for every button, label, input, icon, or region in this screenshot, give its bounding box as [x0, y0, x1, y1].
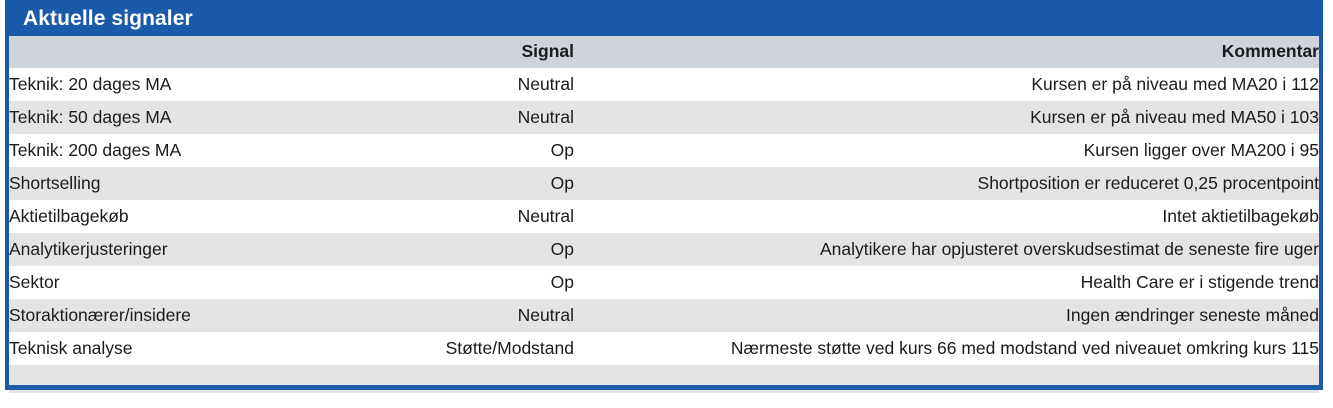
cell-comment: Ingen ændringer seneste måned — [574, 299, 1319, 332]
cell-signal: Neutral — [379, 101, 574, 134]
cell-comment: Kursen er på niveau med MA50 i 103 — [574, 101, 1319, 134]
cell-signal: Neutral — [379, 299, 574, 332]
page-title: Aktuelle signaler — [23, 8, 193, 29]
cell-comment: Kursen er på niveau med MA20 i 112 — [574, 68, 1319, 101]
panel-bottom-rule — [5, 385, 1323, 390]
cell-name: Analytikerjusteringer — [9, 233, 379, 266]
cell-name: Aktietilbagekøb — [9, 200, 379, 233]
table-row: Teknik: 50 dages MANeutralKursen er på n… — [9, 101, 1319, 134]
column-header-signal: Signal — [379, 36, 574, 68]
cell-signal: Op — [379, 266, 574, 299]
panel-title-bar: Aktuelle signaler — [9, 0, 1319, 36]
signals-table: Signal Kommentar Teknik: 20 dages MANeut… — [9, 36, 1319, 393]
table-row: Teknisk analyseStøtte/ModstandNærmeste s… — [9, 332, 1319, 365]
cell-signal: Op — [379, 233, 574, 266]
cell-name: Storaktionærer/insidere — [9, 299, 379, 332]
cell-name: Teknik: 200 dages MA — [9, 134, 379, 167]
table-header: Signal Kommentar — [9, 36, 1319, 68]
cell-signal: Neutral — [379, 68, 574, 101]
cell-name: Shortselling — [9, 167, 379, 200]
table-row: Storaktionærer/insidereNeutralIngen ændr… — [9, 299, 1319, 332]
table-row: Teknik: 20 dages MANeutralKursen er på n… — [9, 68, 1319, 101]
column-header-name — [9, 36, 379, 68]
cell-comment: Nærmeste støtte ved kurs 66 med modstand… — [574, 332, 1319, 365]
table-row: AnalytikerjusteringerOpAnalytikere har o… — [9, 233, 1319, 266]
table-row: AktietilbagekøbNeutralIntet aktietilbage… — [9, 200, 1319, 233]
cell-comment: Intet aktietilbagekøb — [574, 200, 1319, 233]
table-body: Teknik: 20 dages MANeutralKursen er på n… — [9, 68, 1319, 393]
table-row: Teknik: 200 dages MAOpKursen ligger over… — [9, 134, 1319, 167]
cell-name: Teknisk analyse — [9, 332, 379, 365]
cell-comment: Kursen ligger over MA200 i 95 — [574, 134, 1319, 167]
cell-signal: Neutral — [379, 200, 574, 233]
table-header-row: Signal Kommentar — [9, 36, 1319, 68]
cell-comment: Health Care er i stigende trend — [574, 266, 1319, 299]
cell-name: Teknik: 20 dages MA — [9, 68, 379, 101]
signals-panel: Aktuelle signaler Signal Kommentar Tekni… — [5, 0, 1323, 385]
cell-signal: Støtte/Modstand — [379, 332, 574, 365]
cell-comment: Shortposition er reduceret 0,25 procentp… — [574, 167, 1319, 200]
cell-name: Sektor — [9, 266, 379, 299]
cell-signal: Op — [379, 167, 574, 200]
cell-comment: Analytikere har opjusteret overskudsesti… — [574, 233, 1319, 266]
cell-signal: Op — [379, 134, 574, 167]
column-header-comment: Kommentar — [574, 36, 1319, 68]
cell-name: Teknik: 50 dages MA — [9, 101, 379, 134]
table-row: ShortsellingOpShortposition er reduceret… — [9, 167, 1319, 200]
table-row: SektorOpHealth Care er i stigende trend — [9, 266, 1319, 299]
